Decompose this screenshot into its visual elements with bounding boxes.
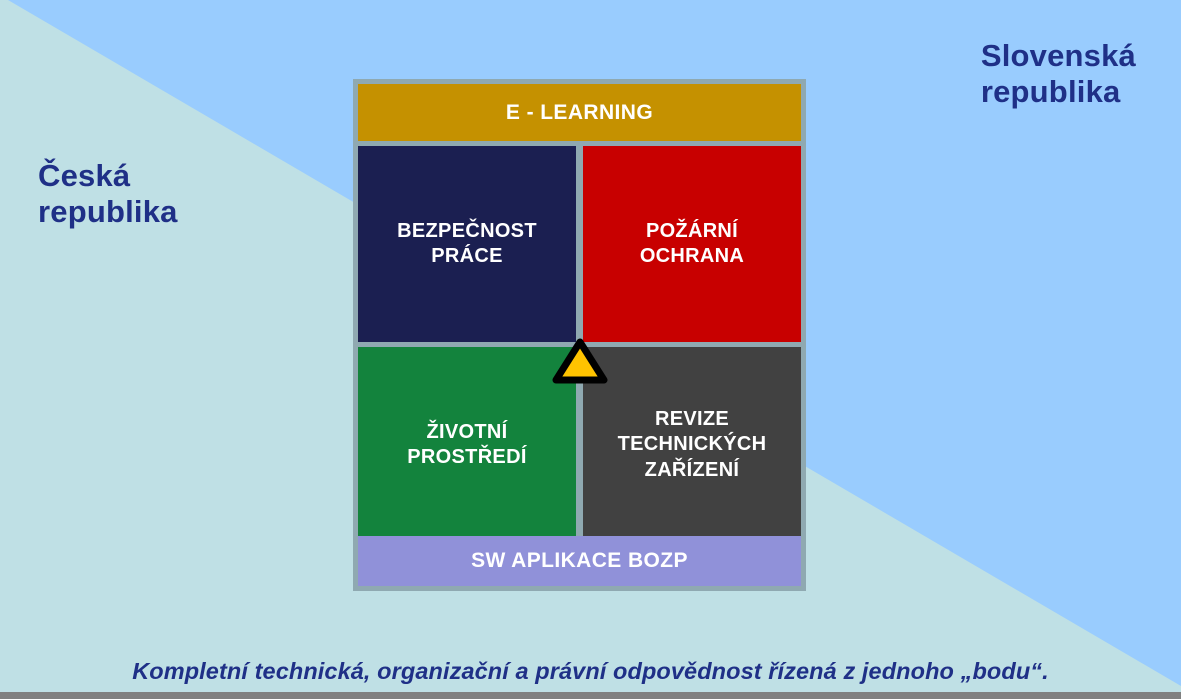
banner-e-learning[interactable]: E - LEARNING [358, 84, 801, 141]
quadrant-line-1: BEZPEČNOST [397, 220, 537, 242]
footer-strip [0, 692, 1181, 699]
label-slovak-line-1: Slovenská [981, 38, 1136, 74]
quadrant-pozarni-ochrana[interactable]: POŽÁRNÍ OCHRANA [583, 146, 801, 342]
quadrant-line-2: PRÁCE [431, 245, 503, 267]
label-czech-line-2: republika [38, 194, 178, 230]
slide-canvas: Česká republika Slovenská republika E - … [0, 0, 1181, 699]
quadrant-line-2: OCHRANA [640, 245, 744, 267]
quadrant-zivotni-prostredi[interactable]: ŽIVOTNÍ PROSTŘEDÍ [358, 347, 576, 543]
quadrant-bezpecnost-prace[interactable]: BEZPEČNOST PRÁCE [358, 146, 576, 342]
quadrant-revize-technickych-zarizeni-label: REVIZE TECHNICKÝCH ZAŘÍZENÍ [618, 407, 767, 483]
quadrant-line-1: REVIZE [655, 408, 729, 430]
quadrant-line-1: ŽIVOTNÍ [426, 421, 507, 443]
quadrant-line-2: PROSTŘEDÍ [407, 446, 526, 468]
quadrant-line-3: ZAŘÍZENÍ [645, 459, 740, 481]
quadrant-bezpecnost-prace-label: BEZPEČNOST PRÁCE [397, 219, 537, 269]
quadrant-revize-technickych-zarizeni[interactable]: REVIZE TECHNICKÝCH ZAŘÍZENÍ [583, 347, 801, 543]
quadrant-line-1: POŽÁRNÍ [646, 220, 738, 242]
banner-sw-aplikace-bozp-label: SW APLIKACE BOZP [471, 549, 688, 573]
quadrant-line-2: TECHNICKÝCH [618, 433, 767, 455]
quadrant-pozarni-ochrana-label: POŽÁRNÍ OCHRANA [640, 219, 744, 269]
label-czech-republic: Česká republika [38, 158, 178, 231]
slide-caption: Kompletní technická, organizační a právn… [0, 658, 1181, 685]
service-matrix: E - LEARNING BEZPEČNOST PRÁCE POŽÁRNÍ OC… [353, 79, 806, 591]
service-matrix-inner: E - LEARNING BEZPEČNOST PRÁCE POŽÁRNÍ OC… [358, 84, 801, 586]
label-czech-line-1: Česká [38, 158, 178, 194]
label-slovak-line-2: republika [981, 74, 1136, 110]
warning-triangle-icon [552, 338, 608, 384]
banner-e-learning-label: E - LEARNING [506, 101, 653, 125]
banner-sw-aplikace-bozp[interactable]: SW APLIKACE BOZP [358, 536, 801, 586]
quadrant-zivotni-prostredi-label: ŽIVOTNÍ PROSTŘEDÍ [407, 420, 526, 470]
label-slovak-republic: Slovenská republika [981, 38, 1136, 111]
